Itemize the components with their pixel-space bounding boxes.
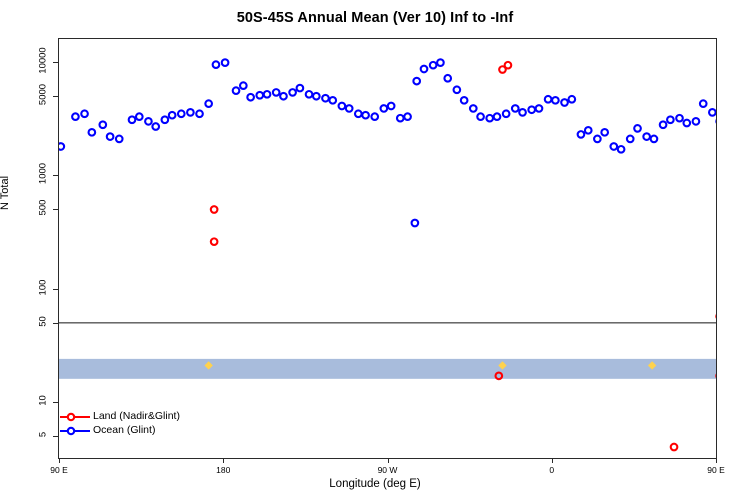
data-point-marker — [247, 94, 254, 101]
data-point-marker — [129, 116, 136, 123]
x-axis-tick-label: 90 E — [686, 465, 746, 475]
data-point-marker — [355, 110, 362, 117]
data-point-marker — [59, 143, 64, 150]
legend-item: Ocean (Glint) — [60, 423, 240, 437]
y-axis-tick-label: 100 — [38, 267, 49, 307]
data-point-marker — [205, 100, 212, 107]
y-axis-tick-label: 10 — [38, 380, 49, 420]
y-axis-tick-mark — [53, 289, 58, 290]
data-point-marker — [494, 113, 501, 120]
data-point-marker — [505, 62, 512, 69]
data-point-marker — [552, 97, 559, 104]
y-axis-tick-label: 10000 — [38, 41, 49, 81]
data-point-marker — [693, 118, 700, 125]
data-point-marker — [444, 75, 451, 82]
data-point-marker — [81, 110, 88, 117]
data-point-marker — [178, 110, 185, 117]
plot-area — [58, 38, 717, 459]
data-point-marker — [660, 121, 667, 128]
data-point-marker — [412, 220, 419, 227]
series-land-nadir-glint — [211, 62, 716, 450]
data-point-marker — [651, 136, 658, 143]
shaded-band — [59, 359, 716, 379]
x-axis-tick-label: 90 E — [29, 465, 89, 475]
data-point-marker — [116, 136, 123, 143]
data-point-marker — [107, 133, 114, 140]
data-point-marker — [667, 116, 674, 123]
data-point-marker — [519, 109, 526, 116]
data-point-marker — [643, 133, 650, 140]
data-point-marker — [145, 118, 152, 125]
x-axis-tick-mark — [223, 458, 224, 463]
data-point-marker — [486, 115, 493, 122]
data-point-marker — [437, 59, 444, 66]
data-point-marker — [388, 103, 395, 110]
data-point-marker — [594, 136, 601, 143]
data-point-marker — [397, 115, 404, 122]
data-point-marker — [512, 105, 519, 112]
data-point-marker — [322, 95, 329, 102]
x-axis-title: Longitude (deg E) — [0, 478, 750, 490]
data-point-marker — [454, 86, 461, 93]
y-axis-tick-mark — [53, 209, 58, 210]
data-point-marker — [461, 97, 468, 104]
data-point-marker — [404, 113, 411, 120]
y-axis-tick-label: 5 — [38, 415, 49, 455]
data-point-marker — [187, 109, 194, 116]
data-point-marker — [240, 82, 247, 89]
data-point-marker — [470, 105, 477, 112]
y-axis-tick-mark — [53, 62, 58, 63]
y-axis-tick-mark — [53, 402, 58, 403]
data-point-marker — [72, 113, 79, 120]
x-axis-tick-mark — [59, 458, 60, 463]
data-point-marker — [169, 112, 176, 119]
data-point-marker — [371, 113, 378, 120]
data-point-marker — [430, 62, 437, 69]
data-point-marker — [289, 89, 296, 96]
data-point-marker — [306, 91, 313, 98]
data-point-marker — [280, 93, 287, 100]
y-axis-tick-mark — [53, 323, 58, 324]
data-point-marker — [273, 89, 280, 96]
legend-label: Land (Nadir&Glint) — [93, 409, 180, 423]
data-point-marker — [313, 93, 320, 100]
data-point-marker — [196, 110, 203, 117]
data-point-marker — [545, 96, 552, 103]
x-axis-tick-label: 90 W — [358, 465, 418, 475]
data-point-marker — [569, 96, 576, 103]
data-point-marker — [339, 103, 346, 110]
data-point-marker — [162, 116, 169, 123]
data-point-marker — [211, 238, 218, 245]
data-point-marker — [100, 121, 107, 128]
x-axis-tick-mark — [552, 458, 553, 463]
data-point-marker — [136, 113, 143, 120]
data-point-marker — [611, 143, 618, 150]
data-point-marker — [601, 129, 608, 136]
data-point-marker — [578, 131, 585, 138]
x-axis-tick-label: 180 — [193, 465, 253, 475]
data-point-marker — [152, 123, 159, 130]
data-point-marker — [256, 92, 263, 99]
legend-symbol-ocean-icon — [60, 426, 90, 435]
y-axis-tick-label: 5000 — [38, 75, 49, 115]
y-axis-tick-label: 1000 — [38, 154, 49, 194]
data-point-marker — [346, 105, 353, 112]
data-point-marker — [528, 106, 535, 113]
y-axis-title: N Total — [0, 176, 11, 210]
y-axis-tick-mark — [53, 175, 58, 176]
data-point-marker — [211, 206, 218, 213]
y-axis-tick-mark — [53, 96, 58, 97]
x-axis-tick-label: 0 — [522, 465, 582, 475]
data-point-marker — [561, 99, 568, 106]
x-axis-tick-mark — [388, 458, 389, 463]
data-point-marker — [671, 444, 678, 451]
data-point-marker — [477, 113, 484, 120]
data-point-marker — [618, 146, 625, 153]
chart-title: 50S-45S Annual Mean (Ver 10) Inf to -Inf — [0, 10, 750, 26]
legend-symbol-land-icon — [60, 412, 90, 421]
legend-label: Ocean (Glint) — [93, 423, 155, 437]
data-point-marker — [536, 105, 543, 112]
y-axis-tick-label: 500 — [38, 188, 49, 228]
data-point-marker — [684, 120, 691, 127]
series-ocean-glint — [59, 59, 716, 226]
data-point-marker — [329, 97, 336, 104]
data-point-marker — [233, 87, 240, 94]
data-point-marker — [634, 125, 641, 132]
data-point-marker — [709, 109, 716, 116]
data-point-marker — [213, 61, 220, 68]
chart-root: 50S-45S Annual Mean (Ver 10) Inf to -Inf… — [0, 0, 750, 500]
data-point-marker — [297, 85, 304, 92]
data-point-marker — [503, 110, 510, 117]
scatter-canvas — [59, 39, 716, 458]
data-point-marker — [362, 112, 369, 119]
y-axis-tick-mark — [53, 436, 58, 437]
legend-item: Land (Nadir&Glint) — [60, 409, 240, 423]
data-point-marker — [676, 115, 683, 122]
data-point-marker — [89, 129, 96, 136]
data-point-marker — [264, 91, 271, 98]
data-point-marker — [421, 66, 428, 73]
data-point-marker — [627, 136, 634, 143]
data-point-marker — [222, 59, 229, 66]
data-point-marker — [381, 105, 388, 112]
data-point-marker — [585, 127, 592, 134]
x-axis-tick-mark — [716, 458, 717, 463]
legend: Land (Nadir&Glint)Ocean (Glint) — [60, 409, 240, 437]
data-point-marker — [700, 100, 707, 107]
data-point-marker — [413, 78, 420, 85]
